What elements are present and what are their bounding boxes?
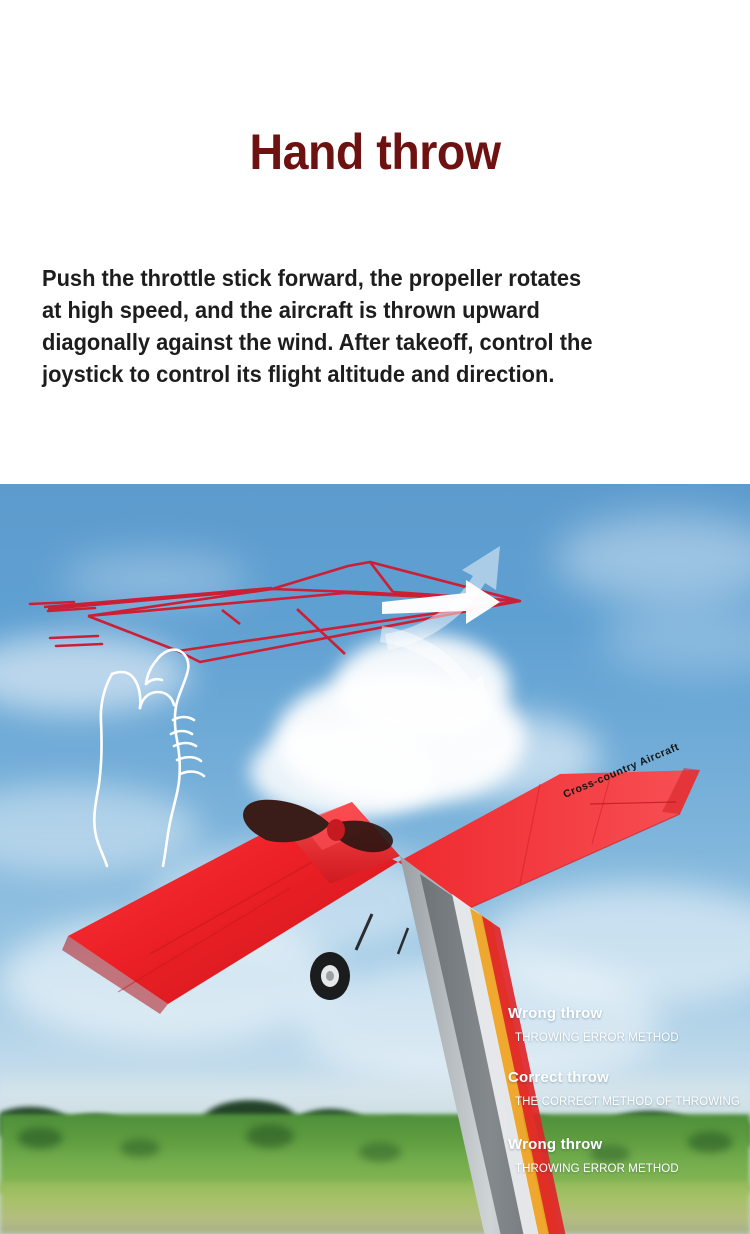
page-description: Push the throttle stick forward, the pro… bbox=[42, 263, 678, 391]
cloud-shape bbox=[555, 514, 750, 604]
callout-heading: Wrong throw bbox=[508, 1137, 679, 1154]
callout-wrong-throw-top: Wrong throw THROWING ERROR METHOD bbox=[508, 1006, 679, 1044]
text-section: Hand throw Push the throttle stick forwa… bbox=[0, 0, 750, 484]
cloud-shape bbox=[0, 914, 340, 1044]
callout-subtext: THROWING ERROR METHOD bbox=[515, 1032, 679, 1045]
grass-strip bbox=[0, 1182, 750, 1234]
callout-heading: Wrong throw bbox=[508, 1006, 679, 1023]
callout-correct-throw: Correct throw THE CORRECT METHOD OF THRO… bbox=[508, 1070, 740, 1108]
cloud-shape bbox=[250, 724, 440, 819]
cloud-shape bbox=[600, 604, 750, 674]
cloud-shape bbox=[430, 714, 600, 799]
cloud-shape bbox=[0, 784, 200, 874]
product-detail-page: Hand throw Push the throttle stick forwa… bbox=[0, 0, 750, 1234]
callout-subtext: THE CORRECT METHOD OF THROWING bbox=[515, 1096, 740, 1109]
cloud-shape bbox=[0, 634, 190, 714]
callout-heading: Correct throw bbox=[508, 1070, 740, 1087]
callout-wrong-throw-bottom: Wrong throw THROWING ERROR METHOD bbox=[508, 1137, 679, 1175]
callout-subtext: THROWING ERROR METHOD bbox=[515, 1163, 679, 1176]
cloud-shape bbox=[60, 554, 250, 604]
arrow-straight-icon bbox=[382, 580, 500, 624]
page-title: Hand throw bbox=[26, 126, 724, 179]
hand-throw-photo: Cross-country Aircraft MURRPLASTIK QIDI-… bbox=[0, 484, 750, 1234]
